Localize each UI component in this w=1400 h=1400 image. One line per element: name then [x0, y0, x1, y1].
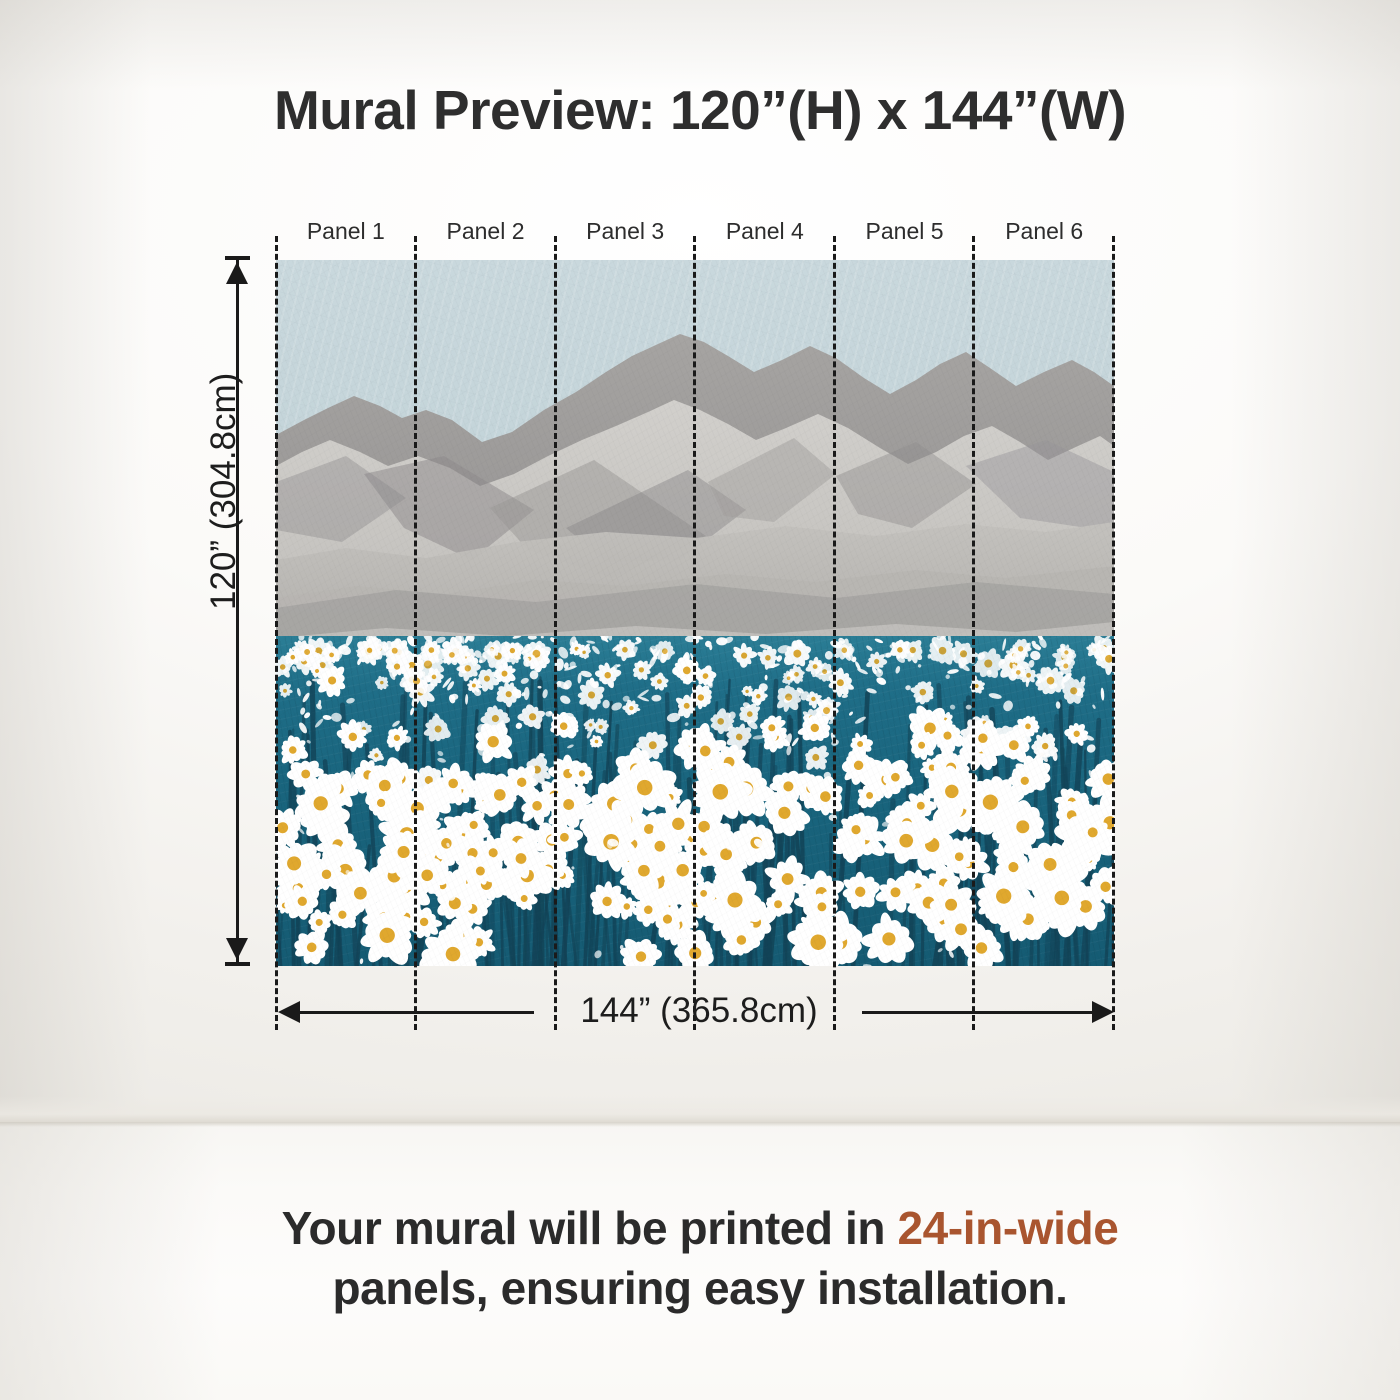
caption-accent-text: 24-in-wide [897, 1202, 1118, 1254]
caption-line-2: panels, ensuring easy installation. [0, 1258, 1400, 1318]
caption-line-1: Your mural will be printed in 24-in-wide [0, 1198, 1400, 1258]
width-dimension-label: 144” (365.8cm) [534, 991, 864, 1031]
arrow-up-icon [226, 262, 248, 284]
height-dimension-label: 120” (304.8cm) [204, 373, 244, 610]
arrow-left-icon [278, 1001, 300, 1023]
caption-line1-text: Your mural will be printed in [282, 1202, 898, 1254]
footer-caption: Your mural will be printed in 24-in-wide… [0, 1198, 1400, 1318]
height-dimension: 120” (304.8cm) [0, 0, 1400, 1122]
arrow-right-icon [1092, 1001, 1114, 1023]
width-dimension-line-left [286, 1011, 534, 1014]
height-dimension-line [236, 258, 239, 964]
width-dimension-line-right [862, 1011, 1104, 1014]
mural-preview-screen: Mural Preview: 120”(H) x 144”(W) Panel 1… [0, 0, 1400, 1400]
arrow-down-icon [226, 938, 248, 960]
